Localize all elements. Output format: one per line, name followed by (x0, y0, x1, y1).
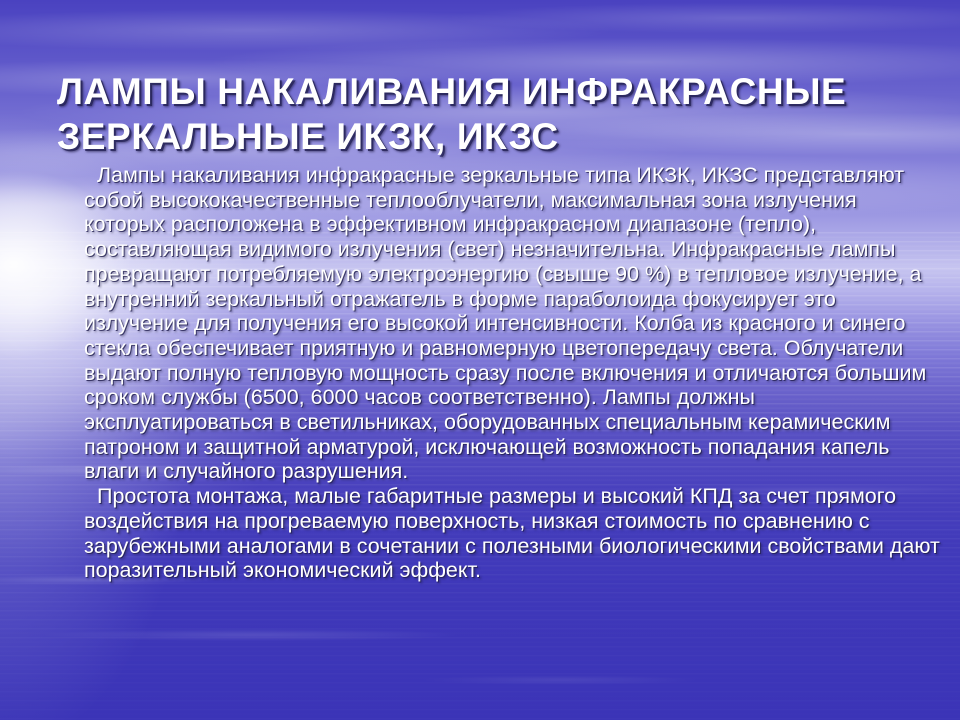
slide-title: ЛАМПЫ НАКАЛИВАНИЯ ИНФРАКРАСНЫЕ ЗЕРКАЛЬНЫ… (57, 69, 907, 159)
slide-body-text: Лампы накаливания инфракрасные зеркальны… (84, 163, 940, 583)
slide-title-line-1: ЛАМПЫ НАКАЛИВАНИЯ ИНФРАКРАСНЫЕ (57, 69, 907, 114)
body-paragraph-1: Лампы накаливания инфракрасные зеркальны… (84, 163, 940, 484)
slide-content: ЛАМПЫ НАКАЛИВАНИЯ ИНФРАКРАСНЫЕ ЗЕРКАЛЬНЫ… (0, 0, 960, 720)
presentation-slide: ЛАМПЫ НАКАЛИВАНИЯ ИНФРАКРАСНЫЕ ЗЕРКАЛЬНЫ… (0, 0, 960, 720)
slide-title-line-2: ЗЕРКАЛЬНЫЕ ИКЗК, ИКЗС (57, 114, 907, 159)
body-paragraph-2: Простота монтажа, малые габаритные разме… (84, 484, 940, 583)
